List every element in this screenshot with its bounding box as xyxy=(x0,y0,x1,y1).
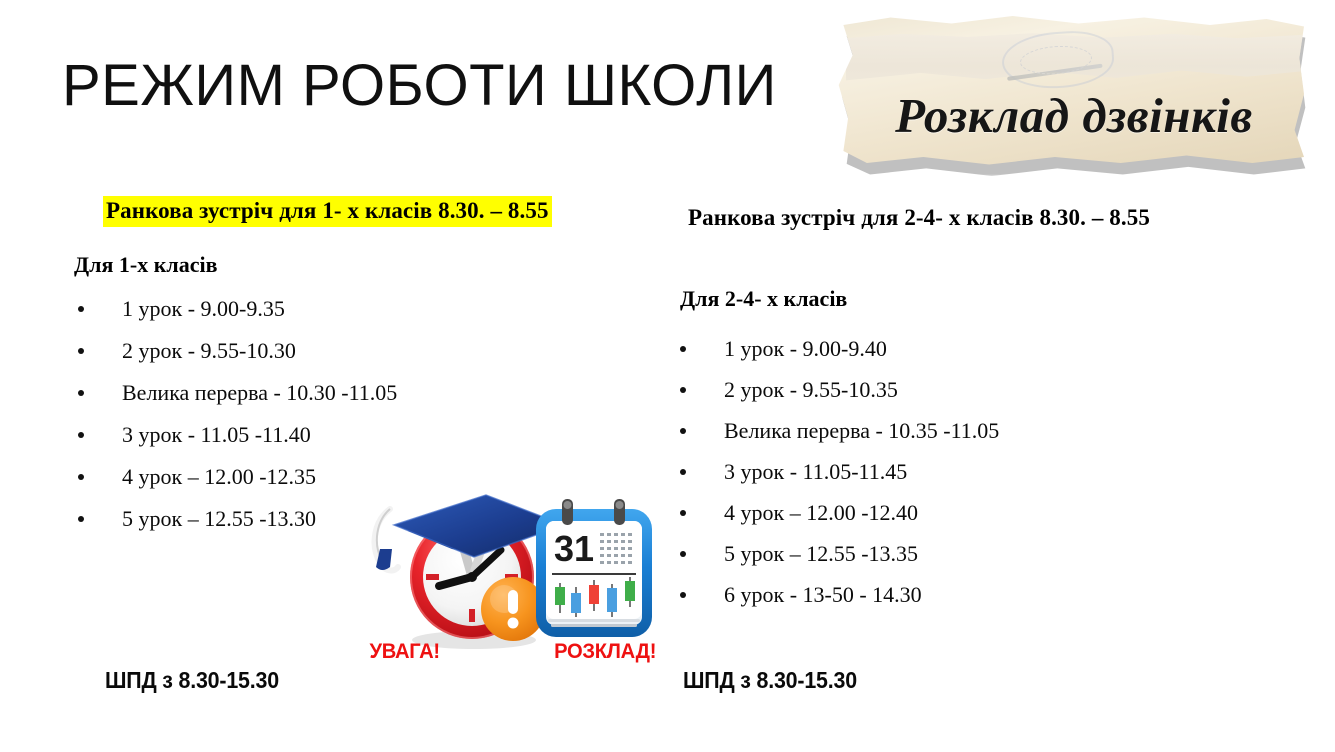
list-item: 5 урок – 12.55 -13.30 xyxy=(74,498,397,540)
bullet-icon xyxy=(78,348,84,354)
bullet-icon xyxy=(680,551,686,557)
clock-calendar-illustration: 31 xyxy=(368,487,658,662)
calendar-icon: 31 xyxy=(536,499,652,637)
bullet-icon xyxy=(680,346,686,352)
banner-title: Розклад дзвінків xyxy=(824,2,1324,187)
list-item-label: 1 урок - 9.00-9.40 xyxy=(724,336,887,361)
bullet-icon xyxy=(78,390,84,396)
bullet-icon xyxy=(78,432,84,438)
bullet-icon xyxy=(680,510,686,516)
list-item-label: 6 урок - 13-50 - 14.30 xyxy=(724,582,922,607)
bullet-icon xyxy=(680,592,686,598)
torn-paper-banner: Розклад дзвінків xyxy=(824,2,1324,187)
list-item: 4 урок – 12.00 -12.40 xyxy=(676,492,999,533)
alert-badge-icon xyxy=(481,577,545,641)
list-item: 2 урок - 9.55-10.35 xyxy=(676,369,999,410)
list-item: Велика перерва - 10.30 -11.05 xyxy=(74,372,397,414)
list-item: 3 урок - 11.05-11.45 xyxy=(676,451,999,492)
list-item-label: 4 урок – 12.00 -12.40 xyxy=(724,500,918,525)
right-column-subheading: Для 2-4- х класів xyxy=(680,286,847,312)
page-title: РЕЖИМ РОБОТИ ШКОЛИ xyxy=(62,56,777,117)
right-column-footer: ШПД з 8.30-15.30 xyxy=(683,667,857,694)
bullet-icon xyxy=(78,516,84,522)
right-column-heading: Ранкова зустріч для 2-4- х класів 8.30. … xyxy=(688,205,1150,231)
list-item: 3 урок - 11.05 -11.40 xyxy=(74,414,397,456)
list-item: 5 урок – 12.55 -13.35 xyxy=(676,533,999,574)
list-item-label: 2 урок - 9.55-10.35 xyxy=(724,377,898,402)
illustration-captions: УВАГА! РОЗКЛАД! xyxy=(368,640,658,664)
list-item: Велика перерва - 10.35 -11.05 xyxy=(676,410,999,451)
list-item-label: 3 урок - 11.05-11.45 xyxy=(724,459,907,484)
list-item-label: 5 урок – 12.55 -13.35 xyxy=(724,541,918,566)
list-item-label: 2 урок - 9.55-10.30 xyxy=(122,338,296,363)
cap-tassel-icon xyxy=(375,509,398,570)
list-item-label: 4 урок – 12.00 -12.35 xyxy=(122,464,316,489)
list-item: 2 урок - 9.55-10.30 xyxy=(74,330,397,372)
bullet-icon xyxy=(680,428,686,434)
list-item: 1 урок - 9.00-9.40 xyxy=(676,328,999,369)
left-column-heading: Ранкова зустріч для 1- х класів 8.30. – … xyxy=(103,196,552,227)
right-column-schedule-list: 1 урок - 9.00-9.40 2 урок - 9.55-10.35 В… xyxy=(676,328,999,615)
bullet-icon xyxy=(680,387,686,393)
bullet-icon xyxy=(680,469,686,475)
bullet-icon xyxy=(78,474,84,480)
left-column-subheading: Для 1-х класів xyxy=(74,252,217,278)
list-item-label: Велика перерва - 10.30 -11.05 xyxy=(122,380,397,405)
caption-schedule: РОЗКЛАД! xyxy=(554,640,656,664)
list-item-label: 1 урок - 9.00-9.35 xyxy=(122,296,285,321)
list-item-label: 5 урок – 12.55 -13.30 xyxy=(122,506,316,531)
list-item-label: 3 урок - 11.05 -11.40 xyxy=(122,422,311,447)
calendar-day-number: 31 xyxy=(554,528,594,569)
list-item: 6 урок - 13-50 - 14.30 xyxy=(676,574,999,615)
list-item: 4 урок – 12.00 -12.35 xyxy=(74,456,397,498)
list-item: 1 урок - 9.00-9.35 xyxy=(74,288,397,330)
left-column-footer: ШПД з 8.30-15.30 xyxy=(105,667,279,694)
list-item-label: Велика перерва - 10.35 -11.05 xyxy=(724,418,999,443)
left-column-schedule-list: 1 урок - 9.00-9.35 2 урок - 9.55-10.30 В… xyxy=(74,288,397,540)
caption-attention: УВАГА! xyxy=(369,640,439,664)
bullet-icon xyxy=(78,306,84,312)
